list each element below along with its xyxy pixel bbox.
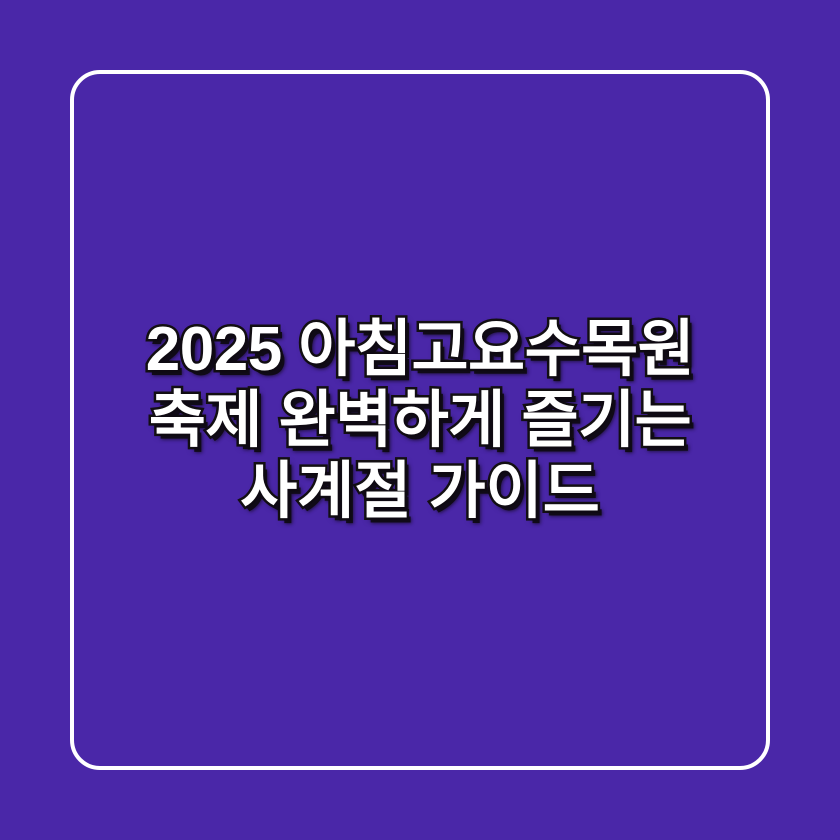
thumbnail-card: 2025 아침고요수목원 축제 완벽하게 즐기는 사계절 가이드 — [0, 0, 840, 840]
headline-block: 2025 아침고요수목원 축제 완벽하게 즐기는 사계절 가이드 — [0, 0, 840, 840]
headline-line-1: 2025 아침고요수목원 — [96, 314, 744, 385]
headline-line-3: 사계절 가이드 — [96, 456, 744, 527]
headline-line-2: 축제 완벽하게 즐기는 — [96, 385, 744, 456]
